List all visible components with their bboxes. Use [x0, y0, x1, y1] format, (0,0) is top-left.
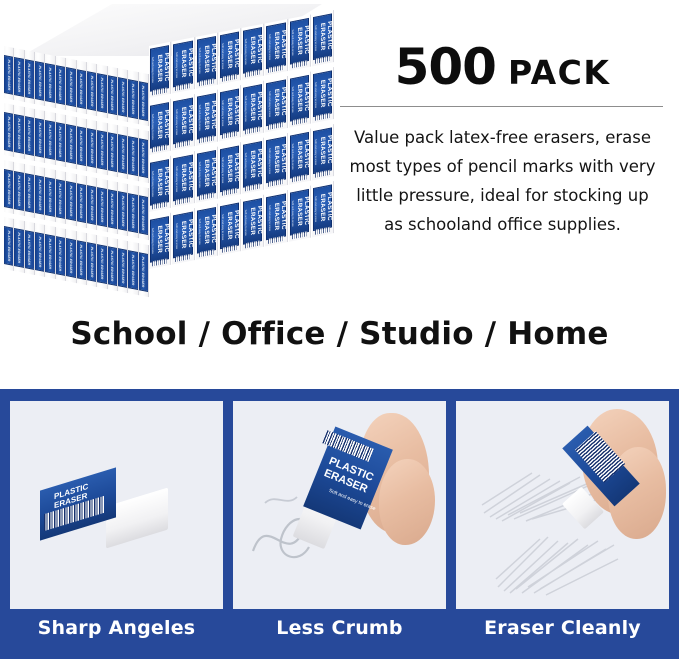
eraser-sleeve-text: PLASTIC ERASER: [7, 230, 11, 261]
eraser-unit-face: PLASTICERASERSoft and easy to erase: [265, 190, 287, 246]
eraser-sleeve-text: PLASTICERASERSoft and easy to erase: [172, 105, 193, 138]
eraser-sleeve-subtitle: Soft and easy to erase: [149, 55, 156, 85]
eraser-unit-face: PLASTICERASERSoft and easy to erase: [149, 42, 171, 98]
eraser-unit-edge: PLASTIC ERASER: [118, 239, 128, 293]
eraser-sleeve-text: PLASTIC ERASER: [141, 256, 145, 287]
description-line: Value pack latex-free erasers, erase: [340, 123, 665, 152]
eraser-sleeve-text: PLASTICERASERSoft and easy to erase: [289, 196, 310, 229]
eraser-sleeve-subtitle: Soft and easy to erase: [312, 194, 319, 224]
eraser-unit-edge: PLASTIC ERASER: [25, 107, 35, 161]
eraser-sleeve: PLASTICERASERSoft and easy to erase: [243, 27, 262, 74]
eraser-sleeve-text: PLASTIC ERASER: [69, 128, 73, 159]
feature-section: PLASTIC ERASER PLASTIC ERASER: [0, 389, 679, 659]
eraser-unit-edge: PLASTIC ERASER: [97, 235, 107, 289]
eraser-sleeve: PLASTIC ERASER: [66, 67, 75, 107]
caption-eraser-cleanly: Eraser Cleanly: [456, 611, 669, 651]
feature-photo-less-crumb: PLASTIC ERASER Soft and easy to erase: [233, 401, 446, 609]
eraser-sleeve-text: PLASTIC ERASER: [48, 238, 52, 269]
stack-tier: PLASTIC ERASERPLASTIC ERASERPLASTIC ERAS…: [4, 217, 334, 275]
eraser-sleeve-text: PLASTICERASERSoft and easy to erase: [242, 205, 263, 238]
eraser-unit-face: PLASTICERASERSoft and easy to erase: [172, 94, 194, 150]
eraser-unit-edge: PLASTIC ERASER: [56, 56, 66, 110]
eraser-sleeve-text: PLASTICERASERSoft and easy to erase: [265, 87, 286, 120]
eraser-unit-edge: PLASTIC ERASER: [4, 160, 14, 214]
eraser-unit-face: PLASTICERASERSoft and easy to erase: [196, 147, 218, 203]
eraser-sleeve-subtitle: Soft and easy to erase: [149, 169, 156, 199]
eraser-sleeve-text: PLASTIC ERASER: [69, 242, 73, 273]
eraser-sleeve: PLASTICERASERSoft and easy to erase: [197, 150, 216, 197]
eraser-sleeve-text: PLASTICERASERSoft and easy to erase: [289, 82, 310, 115]
eraser-sleeve-text: PLASTIC ERASER: [38, 179, 42, 210]
eraser-sleeve: PLASTICERASERSoft and easy to erase: [313, 127, 332, 174]
eraser-sleeve: PLASTIC ERASER: [77, 240, 86, 280]
eraser-unit-face: PLASTICERASERSoft and easy to erase: [312, 124, 334, 180]
eraser-sleeve-text: PLASTICERASERSoft and easy to erase: [149, 52, 170, 85]
eraser-sleeve-subtitle: Soft and easy to erase: [242, 37, 249, 67]
eraser-sleeve: PLASTIC ERASER: [45, 63, 54, 103]
eraser-sleeve: PLASTIC ERASER: [25, 230, 34, 270]
eraser-sleeve: PLASTIC ERASER: [56, 179, 65, 219]
eraser-sleeve-text: PLASTICERASERSoft and easy to erase: [242, 91, 263, 124]
eraser-sleeve: PLASTIC ERASER: [128, 250, 137, 290]
eraser-sleeve-text: PLASTICERASERSoft and easy to erase: [289, 25, 310, 58]
eraser-sleeve-subtitle: Soft and easy to erase: [312, 137, 319, 167]
scribble-lower: [494, 533, 620, 597]
eraser-sleeve: PLASTIC ERASER: [45, 234, 54, 274]
eraser-unit-edge: PLASTIC ERASER: [4, 103, 14, 157]
eraser-sleeve-text: PLASTICERASERSoft and easy to erase: [149, 166, 170, 199]
eraser-sleeve: PLASTIC ERASER: [14, 228, 23, 268]
eraser-unit-face: PLASTICERASERSoft and easy to erase: [196, 33, 218, 89]
eraser-unit-face: PLASTICERASERSoft and easy to erase: [149, 156, 171, 212]
eraser-sleeve: PLASTICERASERSoft and easy to erase: [266, 193, 285, 240]
eraser-sleeve-text: PLASTIC ERASER: [58, 69, 62, 100]
eraser-sleeve: PLASTICERASERSoft and easy to erase: [197, 93, 216, 140]
eraser-sleeve: PLASTIC ERASER: [4, 55, 13, 95]
eraser-sleeve-text: PLASTIC ERASER: [38, 65, 42, 96]
eraser-sleeve-subtitle: Soft and easy to erase: [149, 112, 156, 142]
eraser-sleeve: PLASTIC ERASER: [14, 57, 23, 97]
eraser-unit-face: PLASTICERASERSoft and easy to erase: [289, 129, 311, 185]
eraser-sleeve-subtitle: Soft and easy to erase: [172, 50, 179, 80]
eraser-sleeve-text: PLASTICERASERSoft and easy to erase: [265, 201, 286, 234]
eraser-unit-edge: PLASTIC ERASER: [108, 237, 118, 291]
eraser-sleeve: PLASTICERASERSoft and easy to erase: [150, 45, 169, 92]
photo-hand-erasing-scribbles: [456, 401, 669, 609]
eraser-sleeve: PLASTICERASERSoft and easy to erase: [150, 216, 169, 263]
eraser-sleeve: PLASTICERASERSoft and easy to erase: [220, 203, 239, 250]
eraser-unit-edge: PLASTIC ERASER: [35, 109, 45, 163]
eraser-sleeve-text: PLASTICERASERSoft and easy to erase: [242, 34, 263, 67]
eraser-stack-image: PLASTIC ERASERPLASTIC ERASERPLASTIC ERAS…: [4, 4, 334, 289]
eraser-sleeve-text: PLASTIC ERASER: [79, 73, 83, 104]
eraser-unit-face: PLASTICERASERSoft and easy to erase: [265, 76, 287, 132]
eraser-sleeve: PLASTICERASERSoft and easy to erase: [150, 102, 169, 149]
eraser-sleeve-subtitle: Soft and easy to erase: [265, 146, 272, 176]
eraser-unit-edge: PLASTIC ERASER: [14, 48, 24, 102]
eraser-sleeve: PLASTICERASERSoft and easy to erase: [290, 75, 309, 122]
eraser-sleeve: PLASTIC ERASER: [35, 175, 44, 215]
eraser-sleeve: PLASTICERASERSoft and easy to erase: [173, 98, 192, 145]
eraser-unit-face: PLASTICERASERSoft and easy to erase: [289, 15, 311, 71]
eraser-sleeve-text: PLASTIC ERASER: [48, 124, 52, 155]
eraser-sleeve: PLASTIC ERASER: [4, 226, 13, 266]
caption-less-crumb: Less Crumb: [233, 611, 446, 651]
eraser-sleeve-subtitle: Soft and easy to erase: [219, 212, 226, 242]
eraser-unit-face: PLASTICERASERSoft and easy to erase: [242, 138, 264, 194]
eraser-sleeve-subtitle: Soft and easy to erase: [312, 80, 319, 110]
eraser-sleeve-text: PLASTIC ERASER: [27, 177, 31, 208]
hand-thumb: [379, 459, 435, 545]
eraser-sleeve-text: PLASTIC ERASER: [90, 75, 94, 106]
eraser-sleeve-text: PLASTIC ERASER: [38, 236, 42, 267]
eraser-sleeve: PLASTIC ERASER: [118, 248, 127, 288]
eraser-sleeve-text: PLASTIC ERASER: [90, 132, 94, 163]
eraser-sleeve: PLASTICERASERSoft and easy to erase: [243, 84, 262, 131]
eraser-sleeve: PLASTICERASERSoft and easy to erase: [313, 184, 332, 231]
eraser-sleeve: PLASTIC ERASER: [108, 246, 117, 286]
eraser-unit-face: PLASTICERASERSoft and easy to erase: [312, 67, 334, 123]
eraser-sleeve: PLASTIC ERASER: [87, 242, 96, 282]
eraser-sleeve-text: PLASTICERASERSoft and easy to erase: [172, 162, 193, 195]
eraser-unit-face: PLASTICERASERSoft and easy to erase: [242, 24, 264, 80]
eraser-sleeve: PLASTICERASERSoft and easy to erase: [266, 22, 285, 69]
eraser-sleeve: PLASTICERASERSoft and easy to erase: [197, 36, 216, 83]
eraser-sleeve-text: PLASTICERASERSoft and easy to erase: [196, 157, 217, 190]
eraser-sleeve: PLASTICERASERSoft and easy to erase: [220, 89, 239, 136]
stack-left-face: PLASTIC ERASERPLASTIC ERASERPLASTIC ERAS…: [4, 217, 149, 297]
eraser-sleeve-text: PLASTIC ERASER: [100, 248, 104, 279]
eraser-sleeve: PLASTICERASERSoft and easy to erase: [266, 79, 285, 126]
eraser-sleeve: PLASTIC ERASER: [4, 112, 13, 152]
product-description: Value pack latex-free erasers, erasemost…: [340, 123, 665, 239]
eraser-unit-face: PLASTICERASERSoft and easy to erase: [172, 151, 194, 207]
eraser-sleeve: PLASTIC ERASER: [14, 114, 23, 154]
eraser-unit-face: PLASTICERASERSoft and easy to erase: [149, 99, 171, 155]
eraser-sleeve: PLASTICERASERSoft and easy to erase: [266, 136, 285, 183]
eraser-sleeve-subtitle: Soft and easy to erase: [196, 217, 203, 247]
eraser-unit-edge: PLASTIC ERASER: [139, 243, 149, 297]
eraser-sleeve-subtitle: Soft and easy to erase: [219, 41, 226, 71]
eraser-sleeve-text: PLASTIC ERASER: [90, 189, 94, 220]
eraser-sleeve-subtitle: Soft and easy to erase: [172, 107, 179, 137]
eraser-sleeve-subtitle: Soft and easy to erase: [242, 94, 249, 124]
eraser-unit-face: PLASTICERASERSoft and easy to erase: [172, 208, 194, 264]
eraser-sleeve: PLASTIC ERASER: [56, 236, 65, 276]
eraser-sleeve: PLASTIC ERASER: [56, 122, 65, 162]
eraser-sleeve-subtitle: Soft and easy to erase: [289, 28, 296, 58]
eraser-sleeve: PLASTIC ERASER: [35, 232, 44, 272]
photo-single-eraser: PLASTIC ERASER: [10, 401, 223, 609]
pack-headline: 500 PACK: [340, 42, 665, 92]
eraser-unit-edge: PLASTIC ERASER: [45, 225, 55, 279]
eraser-unit-face: PLASTICERASERSoft and easy to erase: [149, 213, 171, 269]
eraser-sleeve: PLASTICERASERSoft and easy to erase: [173, 212, 192, 259]
eraser-sleeve-text: PLASTIC ERASER: [17, 232, 21, 263]
eraser-sleeve: PLASTICERASERSoft and easy to erase: [313, 13, 332, 60]
feature-panels: PLASTIC ERASER PLASTIC ERASER: [10, 401, 669, 609]
eraser-sleeve: PLASTICERASERSoft and easy to erase: [173, 41, 192, 88]
eraser-sleeve-text: PLASTICERASERSoft and easy to erase: [219, 153, 240, 186]
eraser-sleeve-text: PLASTICERASERSoft and easy to erase: [312, 20, 333, 53]
eraser-unit-edge: PLASTIC ERASER: [56, 170, 66, 224]
eraser-sleeve-text: PLASTIC ERASER: [131, 254, 135, 285]
eraser-sleeve-text: PLASTICERASERSoft and easy to erase: [172, 219, 193, 252]
eraser-sleeve-subtitle: Soft and easy to erase: [196, 46, 203, 76]
eraser-sleeve-text: PLASTICERASERSoft and easy to erase: [196, 214, 217, 247]
eraser-sleeve-text: PLASTIC ERASER: [58, 126, 62, 157]
eraser-unit-face: PLASTICERASERSoft and easy to erase: [242, 81, 264, 137]
eraser-sleeve-subtitle: Soft and easy to erase: [289, 199, 296, 229]
eraser-sleeve: PLASTIC ERASER: [45, 120, 54, 160]
eraser-sleeve: PLASTICERASERSoft and easy to erase: [290, 189, 309, 236]
eraser-sleeve-text: PLASTICERASERSoft and easy to erase: [312, 77, 333, 110]
eraser-sleeve-text: PLASTICERASERSoft and easy to erase: [242, 148, 263, 181]
eraser-sleeve: PLASTIC ERASER: [25, 173, 34, 213]
eraser-sleeve-text: PLASTIC ERASER: [7, 116, 11, 147]
eraser-unit-face: PLASTICERASERSoft and easy to erase: [312, 10, 334, 66]
eraser-sleeve-text: PLASTIC ERASER: [17, 175, 21, 206]
eraser-sleeve-text: PLASTIC ERASER: [90, 246, 94, 277]
eraser-sleeve-text: PLASTICERASERSoft and easy to erase: [219, 39, 240, 72]
eraser-unit-edge: PLASTIC ERASER: [35, 52, 45, 106]
eraser-sleeve: PLASTIC ERASER: [66, 181, 75, 221]
eraser-sleeve: PLASTICERASERSoft and easy to erase: [150, 159, 169, 206]
eraser-unit-face: PLASTICERASERSoft and easy to erase: [219, 28, 241, 84]
eraser-sleeve: PLASTIC ERASER: [56, 65, 65, 105]
eraser-unit-edge: PLASTIC ERASER: [87, 233, 97, 287]
eraser-sleeve: PLASTICERASERSoft and easy to erase: [313, 70, 332, 117]
eraser-sleeve-text: PLASTIC ERASER: [7, 173, 11, 204]
eraser-sleeve-subtitle: Soft and easy to erase: [289, 85, 296, 115]
eraser-sleeve-text: PLASTICERASERSoft and easy to erase: [265, 30, 286, 63]
eraser-sleeve: PLASTICERASERSoft and easy to erase: [220, 146, 239, 193]
eraser-sleeve-text: PLASTIC ERASER: [38, 122, 42, 153]
eraser-unit-face: PLASTICERASERSoft and easy to erase: [219, 142, 241, 198]
eraser-sleeve-subtitle: Soft and easy to erase: [265, 32, 272, 62]
eraser-unit-edge: PLASTIC ERASER: [56, 113, 66, 167]
eraser-unit-edge: PLASTIC ERASER: [66, 229, 76, 283]
eraser-sleeve: PLASTIC ERASER: [35, 118, 44, 158]
eraser-unit-edge: PLASTIC ERASER: [35, 166, 45, 220]
eraser-sleeve: PLASTIC ERASER: [139, 252, 148, 292]
feature-photo-sharp-angeles: PLASTIC ERASER: [10, 401, 223, 609]
eraser-unit-edge: PLASTIC ERASER: [4, 217, 14, 271]
eraser-sleeve: PLASTICERASERSoft and easy to erase: [290, 18, 309, 65]
eraser-sleeve-subtitle: Soft and easy to erase: [242, 208, 249, 238]
eraser-sleeve-text: PLASTIC ERASER: [27, 234, 31, 265]
eraser-unit-edge: PLASTIC ERASER: [56, 227, 66, 281]
eraser-unit-face: PLASTICERASERSoft and easy to erase: [172, 37, 194, 93]
eraser-sleeve: PLASTIC ERASER: [45, 177, 54, 217]
eraser-unit-edge: PLASTIC ERASER: [35, 223, 45, 277]
eraser-sleeve-subtitle: Soft and easy to erase: [196, 160, 203, 190]
eraser-sleeve: PLASTIC ERASER: [14, 171, 23, 211]
eraser-sleeve-text: PLASTIC ERASER: [48, 181, 52, 212]
eraser-sleeve: PLASTIC ERASER: [4, 169, 13, 209]
eraser-sleeve-text: PLASTIC ERASER: [17, 61, 21, 92]
caption-sharp-angeles: Sharp Angeles: [10, 611, 223, 651]
eraser-unit-edge: PLASTIC ERASER: [14, 162, 24, 216]
eraser-sleeve-text: PLASTIC ERASER: [7, 59, 11, 90]
eraser-sleeve-subtitle: Soft and easy to erase: [149, 226, 156, 256]
usage-banner: School / Office / Studio / Home: [0, 316, 679, 352]
headline-divider: [340, 106, 663, 107]
eraser-unit-face: PLASTICERASERSoft and easy to erase: [219, 199, 241, 255]
eraser-unit-edge: PLASTIC ERASER: [45, 168, 55, 222]
eraser-unit-edge: PLASTIC ERASER: [4, 46, 14, 100]
eraser-sleeve-text: PLASTIC ERASER: [79, 130, 83, 161]
eraser-sleeve: PLASTICERASERSoft and easy to erase: [197, 207, 216, 254]
eraser-sleeve-text: PLASTICERASERSoft and easy to erase: [172, 48, 193, 81]
eraser-unit-face: PLASTICERASERSoft and easy to erase: [289, 72, 311, 128]
eraser-unit-edge: PLASTIC ERASER: [25, 164, 35, 218]
eraser-unit-face: PLASTICERASERSoft and easy to erase: [312, 181, 334, 237]
eraser-sleeve-text: PLASTICERASERSoft and easy to erase: [289, 139, 310, 172]
eraser-sleeve-text: PLASTIC ERASER: [27, 63, 31, 94]
eraser-sleeve-text: PLASTICERASERSoft and easy to erase: [149, 109, 170, 142]
eraser-sleeve-subtitle: Soft and easy to erase: [242, 151, 249, 181]
description-line: as schooland office supplies.: [340, 210, 665, 239]
eraser-sleeve: PLASTICERASERSoft and easy to erase: [243, 141, 262, 188]
eraser-sleeve-text: PLASTIC ERASER: [79, 187, 83, 218]
eraser-sleeve-subtitle: Soft and easy to erase: [265, 89, 272, 119]
eraser-sleeve: PLASTICERASERSoft and easy to erase: [220, 32, 239, 79]
eraser-sleeve: PLASTIC ERASER: [35, 61, 44, 101]
eraser-sleeve-text: PLASTICERASERSoft and easy to erase: [196, 100, 217, 133]
headline-block: 500 PACK Value pack latex-free erasers, …: [340, 42, 665, 239]
eraser-sleeve: PLASTIC ERASER: [25, 59, 34, 99]
eraser-unit-edge: PLASTIC ERASER: [45, 54, 55, 108]
eraser-sleeve: PLASTIC ERASER: [25, 116, 34, 156]
eraser-sleeve: PLASTIC ERASER: [66, 124, 75, 164]
pack-unit-label: PACK: [508, 56, 611, 89]
hero-section: PLASTIC ERASERPLASTIC ERASERPLASTIC ERAS…: [0, 0, 679, 300]
eraser-sleeve-subtitle: Soft and easy to erase: [312, 23, 319, 53]
eraser-sleeve-text: PLASTIC ERASER: [69, 71, 73, 102]
eraser-sleeve-text: PLASTICERASERSoft and easy to erase: [196, 43, 217, 76]
eraser-sleeve-subtitle: Soft and easy to erase: [219, 98, 226, 128]
eraser-sleeve-text: PLASTICERASERSoft and easy to erase: [149, 223, 170, 256]
eraser-unit-face: PLASTICERASERSoft and easy to erase: [265, 133, 287, 189]
eraser-sleeve-text: PLASTICERASERSoft and easy to erase: [312, 191, 333, 224]
eraser-unit-face: PLASTICERASERSoft and easy to erase: [242, 195, 264, 251]
eraser-unit-edge: PLASTIC ERASER: [45, 111, 55, 165]
eraser-sleeve-subtitle: Soft and easy to erase: [219, 155, 226, 185]
eraser-sleeve: PLASTICERASERSoft and easy to erase: [290, 132, 309, 179]
eraser-sleeve-subtitle: Soft and easy to erase: [172, 221, 179, 251]
eraser-sleeve-text: PLASTIC ERASER: [27, 120, 31, 151]
eraser-sleeve-text: PLASTIC ERASER: [79, 244, 83, 275]
photo-hand-erasing-mark: PLASTIC ERASER Soft and easy to erase: [233, 401, 446, 609]
eraser-sleeve-text: PLASTIC ERASER: [58, 183, 62, 214]
feature-photo-eraser-cleanly: [456, 401, 669, 609]
eraser-unit-face: PLASTICERASERSoft and easy to erase: [289, 186, 311, 242]
eraser-sleeve: PLASTIC ERASER: [97, 244, 106, 284]
eraser-unit-edge: PLASTIC ERASER: [128, 241, 138, 295]
eraser-unit-edge: PLASTIC ERASER: [77, 231, 87, 285]
eraser-unit-edge: PLASTIC ERASER: [14, 105, 24, 159]
eraser-sleeve-subtitle: Soft and easy to erase: [289, 142, 296, 172]
eraser-sleeve-text: PLASTIC ERASER: [48, 67, 52, 98]
eraser-sleeve-text: PLASTICERASERSoft and easy to erase: [265, 144, 286, 177]
eraser-unit-face: PLASTICERASERSoft and easy to erase: [196, 204, 218, 260]
eraser-sleeve-subtitle: Soft and easy to erase: [172, 164, 179, 194]
eraser-unit-edge: PLASTIC ERASER: [14, 219, 24, 273]
pack-count: 500: [395, 42, 496, 92]
eraser-unit-face: PLASTICERASERSoft and easy to erase: [196, 90, 218, 146]
eraser-sleeve-text: PLASTIC ERASER: [17, 118, 21, 149]
eraser-sleeve: PLASTICERASERSoft and easy to erase: [243, 198, 262, 245]
eraser-unit-edge: PLASTIC ERASER: [25, 50, 35, 104]
eraser-sleeve-text: PLASTIC ERASER: [58, 240, 62, 271]
eraser-unit-edge: PLASTIC ERASER: [25, 221, 35, 275]
eraser-sleeve-text: PLASTIC ERASER: [69, 185, 73, 216]
eraser-sleeve-text: PLASTICERASERSoft and easy to erase: [312, 134, 333, 167]
eraser-sleeve-text: PLASTIC ERASER: [110, 250, 114, 281]
description-line: little pressure, ideal for stocking up: [340, 181, 665, 210]
feature-captions: Sharp Angeles Less Crumb Eraser Cleanly: [10, 611, 669, 651]
eraser-sleeve: PLASTICERASERSoft and easy to erase: [173, 155, 192, 202]
eraser-sleeve-text: PLASTIC ERASER: [121, 252, 125, 283]
eraser-sleeve-text: PLASTICERASERSoft and easy to erase: [219, 96, 240, 129]
eraser-unit-face: PLASTICERASERSoft and easy to erase: [219, 85, 241, 141]
eraser-sleeve-subtitle: Soft and easy to erase: [196, 103, 203, 133]
eraser-sleeve-subtitle: Soft and easy to erase: [265, 203, 272, 233]
eraser-sleeve: PLASTIC ERASER: [66, 238, 75, 278]
eraser-sleeve-text: PLASTICERASERSoft and easy to erase: [219, 210, 240, 243]
eraser-unit-face: PLASTICERASERSoft and easy to erase: [265, 19, 287, 75]
description-line: most types of pencil marks with very: [340, 152, 665, 181]
